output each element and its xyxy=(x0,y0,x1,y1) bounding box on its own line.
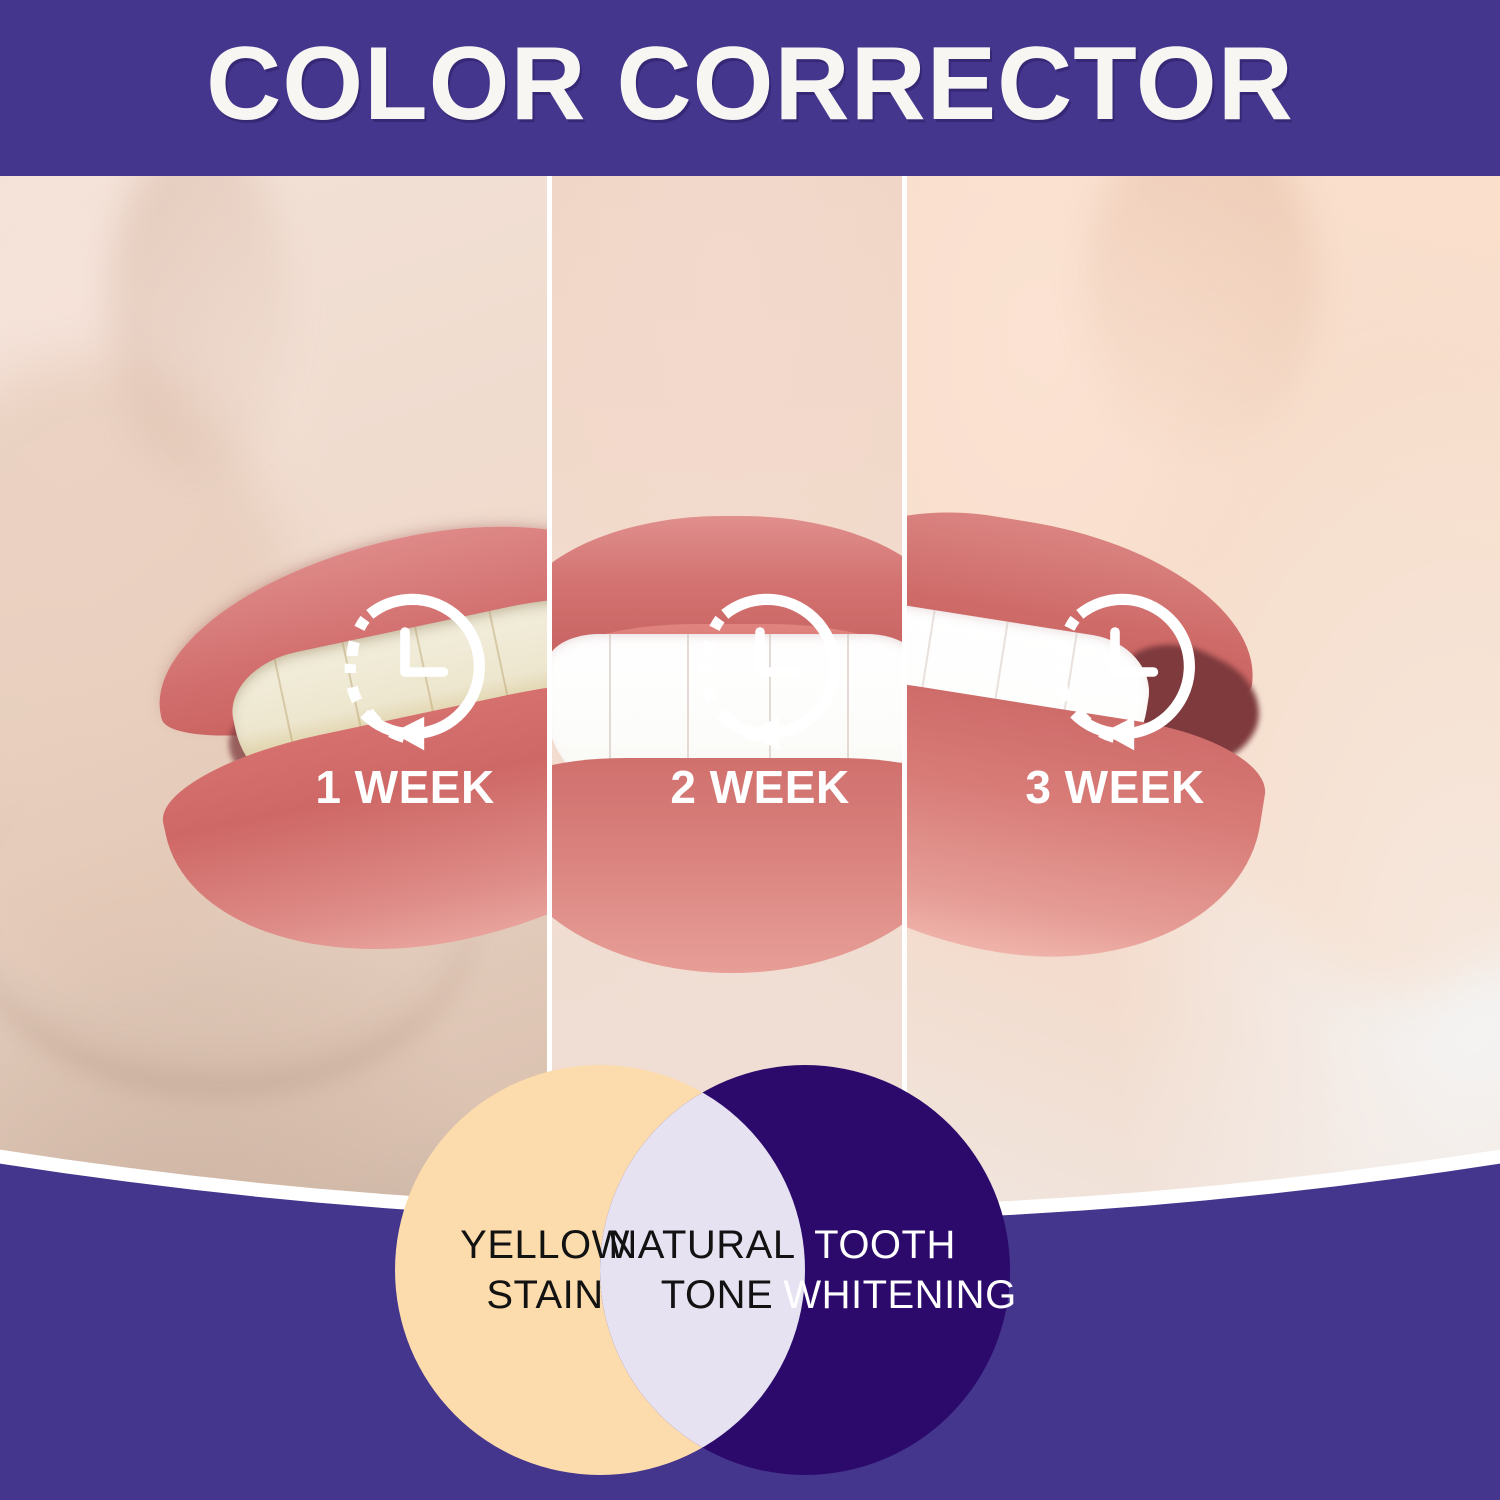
timeline-badge-1-week: 1 WEEK xyxy=(275,592,535,810)
venn-diagram: YELLOW STAIN NATURAL TONE TOOTH WHITENIN… xyxy=(395,1040,1105,1500)
venn-label-right-line2: WHITENING xyxy=(783,1273,1016,1317)
timeline-badge-label: 3 WEEK xyxy=(985,764,1245,810)
page-title: COLOR CORRECTOR xyxy=(0,30,1500,139)
venn-label-right-line1: TOOTH xyxy=(814,1223,956,1267)
clock-arrow-icon xyxy=(325,592,485,752)
clock-arrow-icon xyxy=(1035,592,1195,752)
timeline-badge-label: 2 WEEK xyxy=(630,764,890,810)
venn-label-left-line2: STAIN xyxy=(486,1273,603,1317)
venn-label-left-line1: YELLOW xyxy=(460,1223,630,1267)
timeline-badge-3-week: 3 WEEK xyxy=(985,592,1245,810)
infographic-root: 1 WEEK 2 WEEK xyxy=(0,0,1500,1500)
timeline-badge-label: 1 WEEK xyxy=(275,764,535,810)
header-banner: COLOR CORRECTOR xyxy=(0,0,1500,176)
timeline-badge-2-week: 2 WEEK xyxy=(630,592,890,810)
venn-label-center-line2: TONE xyxy=(661,1273,773,1317)
clock-arrow-icon xyxy=(680,592,840,752)
venn-label-center-line1: NATURAL xyxy=(608,1223,795,1267)
